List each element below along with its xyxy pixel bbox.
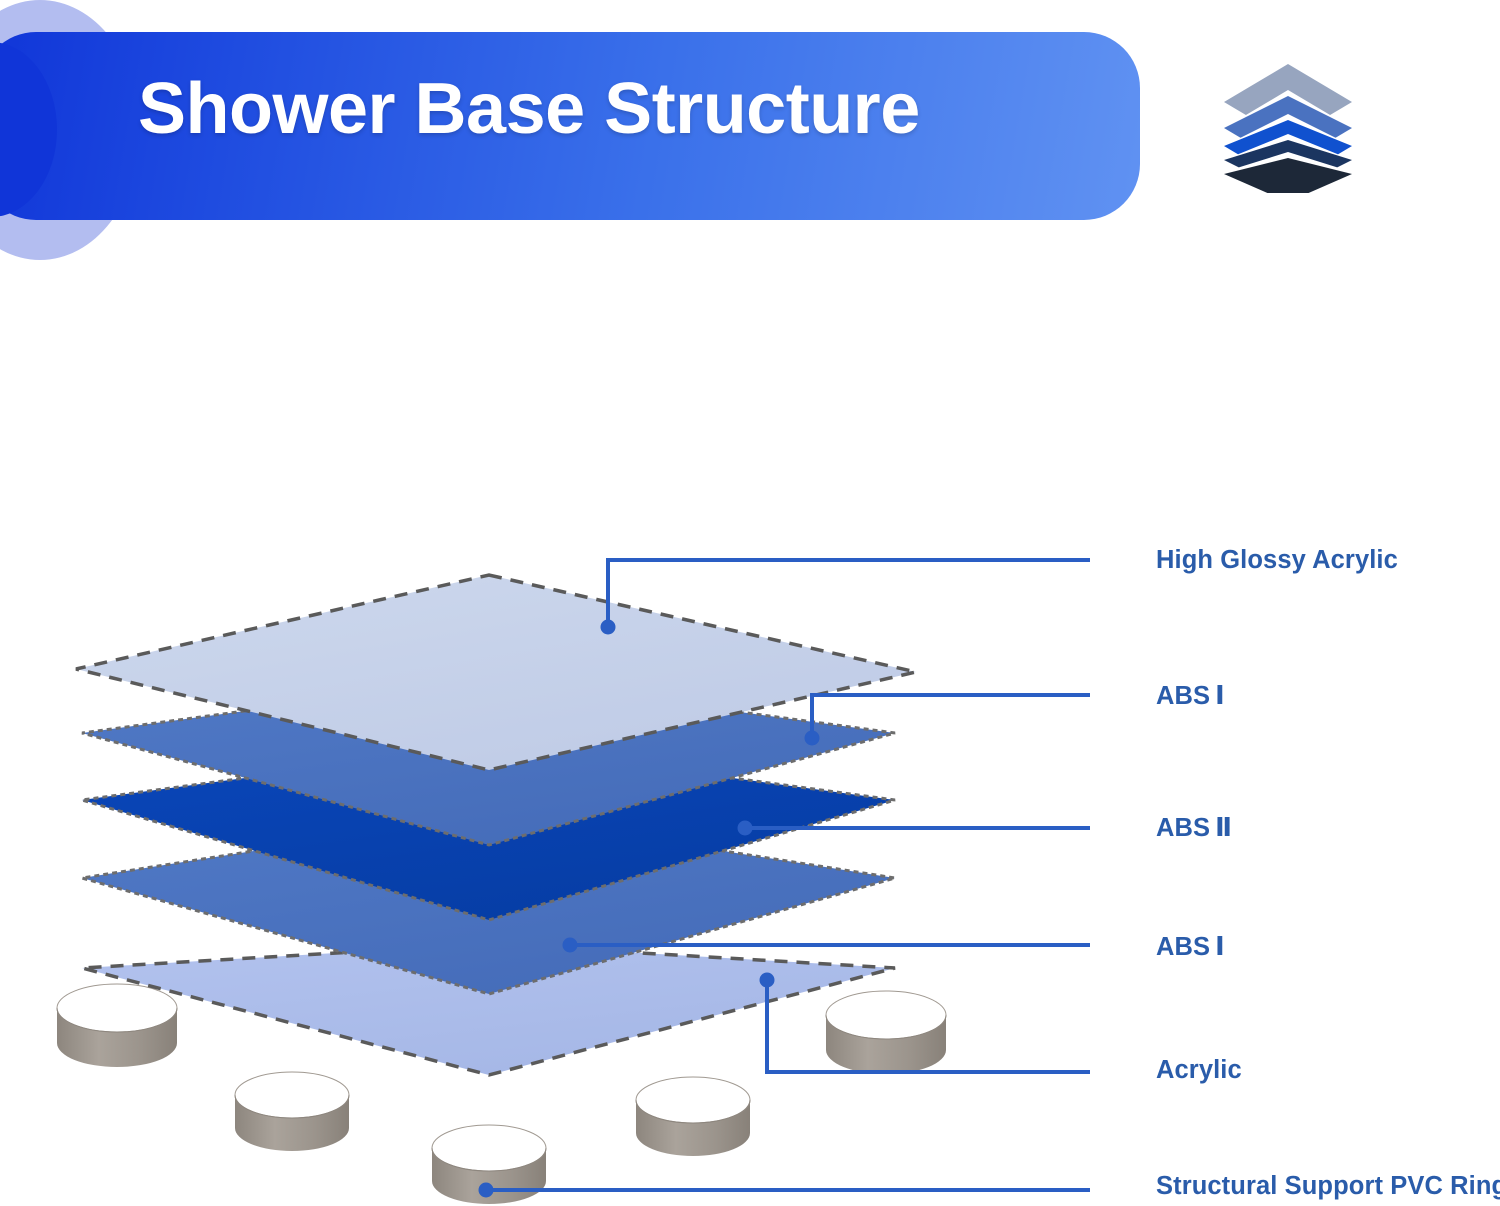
label-text: Structural Support PVC Rings (1156, 1172, 1500, 1200)
label-abs-1-upper: ABSⅠ (1156, 681, 1225, 711)
label-text: Acrylic (1156, 1056, 1242, 1084)
pvc-ring (235, 1072, 349, 1151)
roman-numeral: Ⅰ (1210, 932, 1225, 962)
label-text: ABS (1156, 682, 1210, 710)
pvc-ring (57, 984, 177, 1067)
label-high-glossy-acrylic: High Glossy Acrylic (1156, 546, 1398, 575)
label-acrylic: Acrylic (1156, 1056, 1242, 1085)
label-text: ABS (1156, 933, 1210, 961)
shower-base-structure-page: Shower Base Structure (0, 0, 1500, 1206)
label-text: High Glossy Acrylic (1156, 546, 1398, 574)
layer-diagram (0, 0, 1500, 1206)
pvc-ring (636, 1077, 750, 1156)
label-text: ABS (1156, 814, 1210, 842)
label-abs-2: ABSⅡ (1156, 813, 1232, 843)
callout-line-pvc-rings (479, 1183, 1091, 1198)
label-structural-support-pvc-rings: Structural Support PVC Rings (1156, 1172, 1500, 1201)
pvc-ring (826, 991, 946, 1074)
roman-numeral: Ⅱ (1210, 813, 1232, 843)
label-abs-1-lower: ABSⅠ (1156, 932, 1225, 962)
roman-numeral: Ⅰ (1210, 681, 1225, 711)
